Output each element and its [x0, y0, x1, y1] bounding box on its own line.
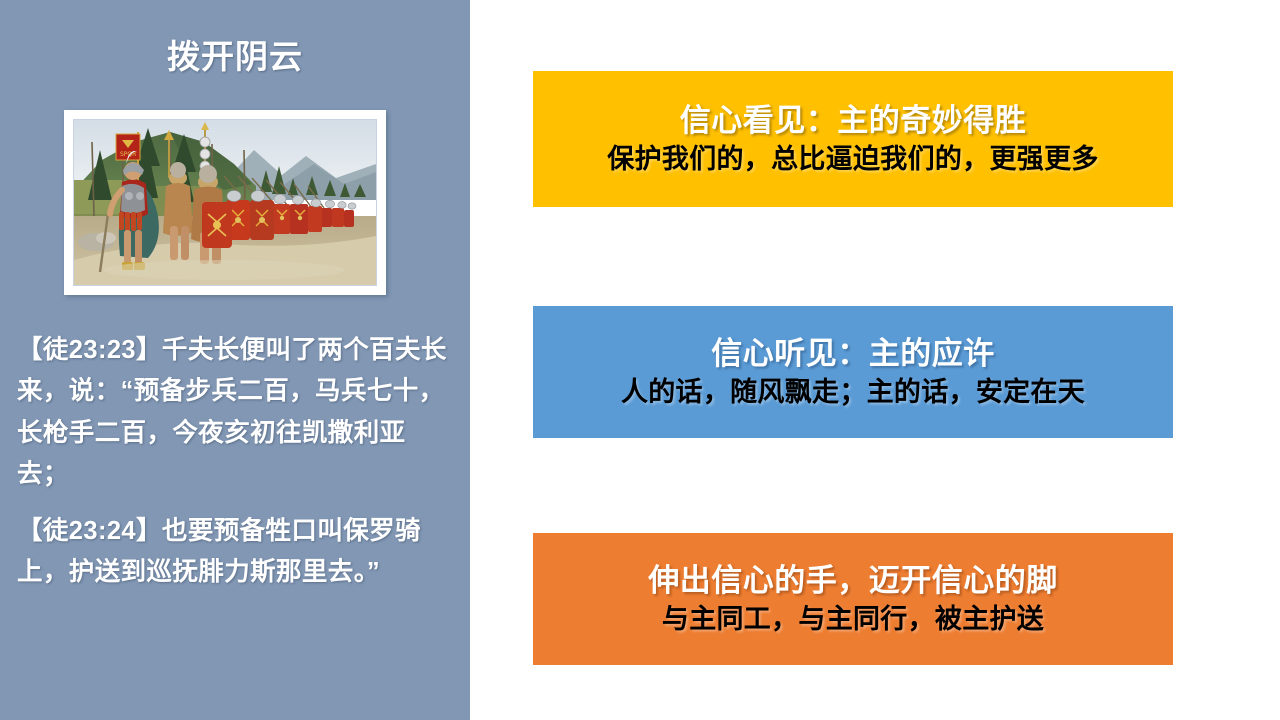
presentation-slide: 拨开阴云: [0, 0, 1280, 720]
roman-soldiers-illustration-svg: SPQR: [74, 120, 376, 285]
illustration-frame-inner: SPQR: [73, 119, 377, 286]
point-subtext: 与主同工，与主同行，被主护送: [662, 603, 1044, 636]
scripture-block: 【徒23:23】千夫长便叫了两个百夫长来，说：“预备步兵二百，马兵七十，长枪手二…: [17, 330, 457, 594]
point-box-faith-hears: 信心听见：主的应许 人的话，随风飘走；主的话，安定在天: [533, 306, 1173, 438]
point-box-faith-acts: 伸出信心的手，迈开信心的脚 与主同工，与主同行，被主护送: [533, 533, 1173, 665]
illustration-frame: SPQR: [64, 110, 386, 295]
point-heading: 信心听见：主的应许: [711, 335, 995, 373]
scripture-verse-2: 【徒23:24】也要预备牲口叫保罗骑上，护送到巡抚腓力斯那里去。”: [17, 511, 457, 594]
point-heading: 伸出信心的手，迈开信心的脚: [648, 562, 1058, 600]
point-subtext: 保护我们的，总比逼迫我们的，更强更多: [607, 143, 1098, 176]
point-subtext: 人的话，随风飘走；主的话，安定在天: [621, 376, 1085, 409]
point-box-faith-sees: 信心看见：主的奇妙得胜 保护我们的，总比逼迫我们的，更强更多: [533, 71, 1173, 207]
slide-title: 拨开阴云: [0, 30, 470, 78]
scripture-verse-1: 【徒23:23】千夫长便叫了两个百夫长来，说：“预备步兵二百，马兵七十，长枪手二…: [17, 330, 457, 495]
point-heading: 信心看见：主的奇妙得胜: [680, 102, 1027, 140]
roman-soldiers-image: SPQR: [74, 120, 376, 285]
left-panel: 拨开阴云: [0, 0, 470, 720]
